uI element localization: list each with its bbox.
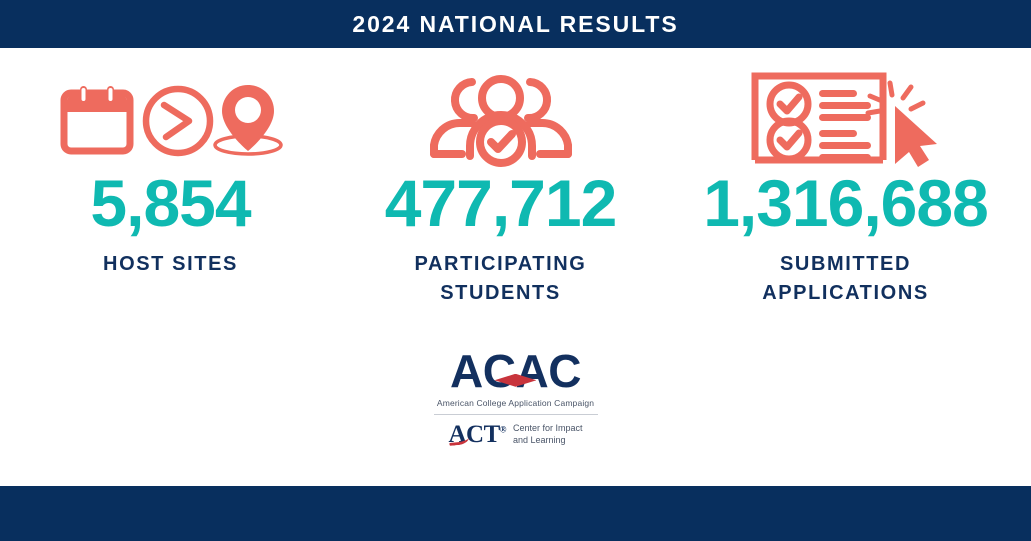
act-logo-row: ACT® Center for Impact and Learning (448, 422, 582, 447)
acac-act-logo: ACAC American College Application Campai… (434, 348, 598, 447)
stat-label-host-sites: HOST SITES (103, 250, 238, 279)
stat-card-participating-students: 477,712 PARTICIPATING STUDENTS (336, 66, 666, 308)
page-title: 2024 NATIONAL RESULTS (352, 11, 678, 38)
stat-number-host-sites: 5,854 (90, 170, 250, 236)
group-people-check-icon (434, 79, 568, 166)
stat-icons-participating-students (426, 66, 576, 170)
clock-icon (146, 89, 210, 153)
stat-label-participating-students: PARTICIPATING STUDENTS (415, 250, 587, 308)
stat-number-participating-students: 477,712 (385, 170, 617, 236)
stat-label-submitted-applications: SUBMITTED APPLICATIONS (762, 250, 929, 308)
stat-card-host-sites: 5,854 HOST SITES (6, 66, 336, 279)
acac-wordmark: ACAC (450, 348, 581, 394)
infographic-page: 2024 NATIONAL RESULTS (0, 0, 1031, 541)
calendar-icon (64, 86, 130, 151)
stat-card-submitted-applications: 1,316,688 SUBMITTED APPLICATIONS (666, 66, 1026, 308)
logo-divider (434, 414, 598, 415)
act-wordmark: ACT® (448, 422, 506, 447)
logo-block: ACAC American College Application Campai… (0, 348, 1031, 447)
stat-icons-submitted-applications (743, 66, 948, 170)
stats-row: 5,854 HOST SITES (0, 66, 1031, 308)
stat-icons-host-sites (56, 66, 286, 170)
acac-tagline: American College Application Campaign (437, 398, 594, 408)
checklist-cursor-icon (755, 76, 937, 167)
act-registered-mark: ® (500, 425, 506, 435)
stat-number-submitted-applications: 1,316,688 (703, 170, 988, 236)
content-area: 5,854 HOST SITES (0, 48, 1031, 541)
header-bar: 2024 NATIONAL RESULTS (0, 0, 1031, 48)
map-pin-icon (215, 85, 281, 154)
acac-wordmark-text: ACAC (450, 345, 581, 397)
footer-bar (0, 486, 1031, 541)
act-subtitle: Center for Impact and Learning (513, 423, 583, 446)
